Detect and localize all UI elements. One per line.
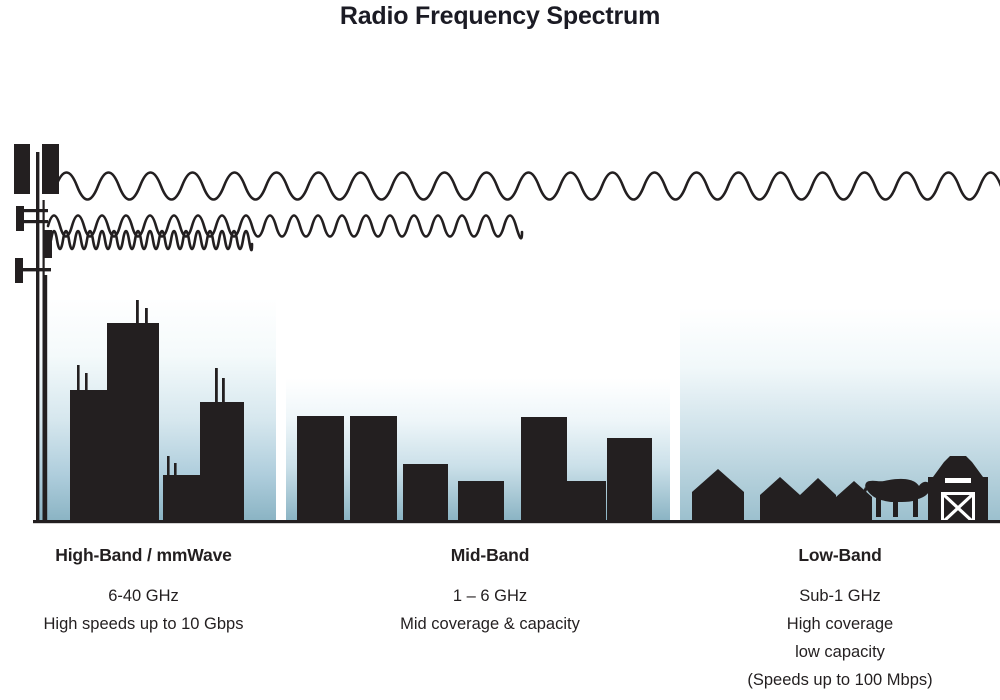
skyscraper-4 [200, 402, 244, 521]
band-captions: High-Band / mmWave 6-40 GHz High speeds … [0, 544, 1000, 700]
band-speed-mid-band: Mid coverage & capacity [330, 610, 650, 638]
mid-building-3 [403, 464, 448, 521]
mid-building-7 [607, 438, 652, 521]
band-detail-high-band: 6-40 GHz High speeds up to 10 Gbps [6, 582, 281, 638]
mid-building-2 [350, 416, 397, 521]
band-frequency-mid-band: 1 – 6 GHz [330, 582, 650, 610]
skyscraper-1-spire-a [77, 365, 80, 391]
mid-building-5 [521, 417, 567, 521]
antenna-panel-top-right [42, 144, 59, 194]
skyscraper-3-spire-a [167, 456, 170, 476]
ground-line [33, 520, 1000, 523]
mid-building-1 [297, 416, 344, 521]
barn-hayloft-window [945, 478, 971, 483]
band-frequency-high-band: 6-40 GHz [6, 582, 281, 610]
skyscraper-1-spire-b [85, 373, 88, 391]
band-column-high-band: High-Band / mmWave 6-40 GHz High speeds … [6, 544, 281, 638]
skyscraper-2 [107, 323, 159, 521]
band-title-mid-band: Mid-Band [330, 544, 650, 566]
band-detail-mid-band: 1 – 6 GHz Mid coverage & capacity [330, 582, 650, 638]
antenna-panel-top-left [14, 144, 30, 194]
skyscraper-2-spire-a [136, 300, 139, 324]
medium-wavelength-wave [48, 216, 522, 239]
band-coverage-low-band: High coverage [680, 610, 1000, 638]
long-wavelength-wave [56, 173, 1000, 204]
band-capacity-low-band: low capacity [680, 638, 1000, 666]
skyscraper-2-spire-b [145, 308, 148, 324]
antenna-crossarm-low [19, 268, 51, 271]
mid-building-4 [458, 481, 504, 521]
band-speed-high-band: High speeds up to 10 Gbps [6, 610, 281, 638]
tower-mast [36, 152, 39, 521]
mid-building-6 [566, 481, 606, 521]
band-title-high-band: High-Band / mmWave [6, 544, 281, 566]
tower-mast-lower [44, 275, 47, 521]
band-frequency-low-band: Sub-1 GHz [680, 582, 1000, 610]
infographic-canvas: Radio Frequency Spectrum [0, 0, 1000, 700]
band-speed-low-band: (Speeds up to 100 Mbps) [680, 666, 1000, 694]
band-detail-low-band: Sub-1 GHz High coverage low capacity (Sp… [680, 582, 1000, 694]
antenna-crossarm-lower [21, 220, 48, 223]
short-wavelength-wave [51, 231, 252, 250]
radio-waves [48, 173, 1000, 251]
skyscraper-4-spire-b [222, 378, 225, 402]
antenna-panel-mid-right [44, 230, 52, 258]
skyscraper-3-spire-b [174, 463, 177, 476]
band-column-low-band: Low-Band Sub-1 GHz High coverage low cap… [680, 544, 1000, 694]
antenna-crossarm-upper [21, 209, 48, 212]
band-title-low-band: Low-Band [680, 544, 1000, 566]
skyscraper-4-spire-a [215, 368, 218, 402]
band-column-mid-band: Mid-Band 1 – 6 GHz Mid coverage & capaci… [330, 544, 650, 638]
